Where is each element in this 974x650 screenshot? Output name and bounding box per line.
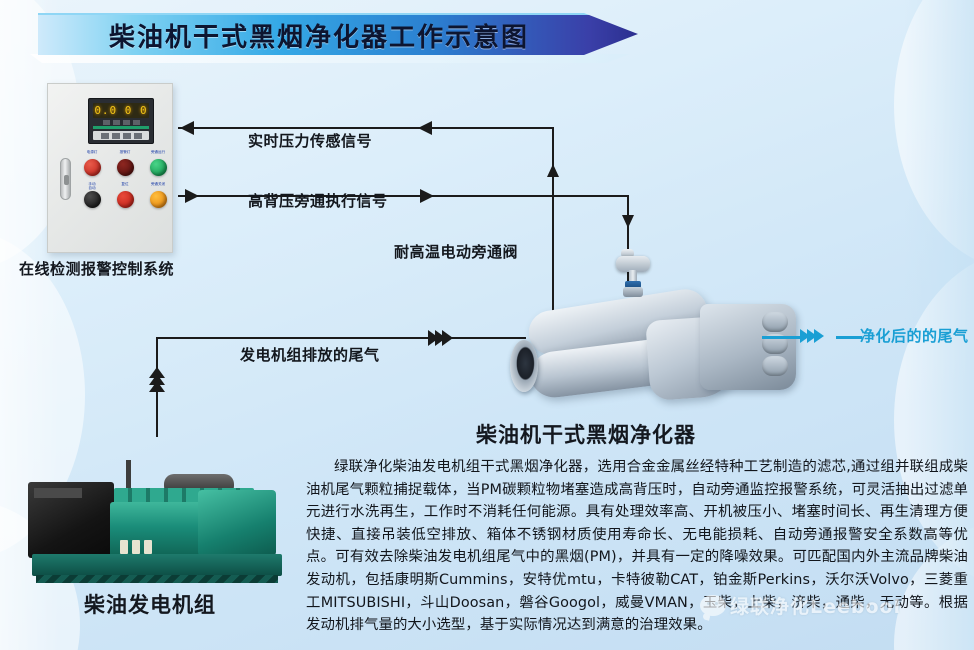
alternator — [198, 490, 276, 556]
label-exhaust-in: 发电机组排放的尾气 — [240, 344, 380, 365]
arrow-pressure-mid — [418, 121, 432, 135]
cabinet-handle — [60, 158, 71, 200]
button-caption: 报警灯 — [115, 150, 135, 159]
arrow-valve-down — [622, 215, 634, 228]
button-caption: 旁通关闭 — [148, 182, 168, 191]
selector-knob-icon — [84, 191, 101, 208]
panel-button-bypass-run[interactable]: 旁通运行 — [148, 150, 168, 176]
filter-cartridge — [762, 356, 788, 376]
device-filter-housing — [700, 304, 796, 390]
button-caption: 手动 自动 — [82, 182, 102, 191]
purifier-device-photo — [508, 278, 818, 408]
wire-bypass-exec — [178, 195, 629, 197]
label-bypass-exec: 高背压旁通执行信号 — [248, 190, 388, 211]
control-panel-photo: 0.0 0 0 电源灯 报警灯 旁通运行 — [47, 83, 173, 253]
generator-set-photo — [14, 466, 296, 584]
arrow-sensor-up — [547, 164, 559, 177]
actuator-base — [623, 287, 643, 297]
device-caption: 柴油机干式黑烟净化器 — [476, 419, 696, 449]
product-description: 绿联净化柴油发电机组干式黑烟净化器，选用合金金属丝经特种工艺制造的滤芯,通过组并… — [306, 456, 968, 637]
device-inlet-flange — [510, 340, 538, 392]
page-title: 柴油机干式黑烟净化器工作示意图 — [109, 17, 567, 54]
wire-exhaust-in — [156, 337, 526, 339]
reset-button-icon — [117, 191, 134, 208]
label-exhaust-out: 净化后的的尾气 — [860, 325, 969, 346]
display-digits: 0.0 0 0 — [93, 103, 149, 118]
control-panel-caption: 在线检测报警控制系统 — [19, 258, 174, 279]
button-caption: 旁通运行 — [148, 150, 168, 159]
button-grid: 电源灯 报警灯 旁通运行 手动 自动 复位 — [82, 150, 168, 214]
arrow-bypass-mid — [420, 189, 434, 203]
panel-button-power[interactable]: 电源灯 — [82, 150, 102, 176]
panel-button-bypass-closed[interactable]: 旁通关闭 — [148, 182, 168, 208]
filter-cartridge — [762, 312, 788, 332]
wire-pressure-signal — [178, 127, 554, 129]
diagram-canvas: 柴油机干式黑烟净化器工作示意图 0.0 0 0 电源灯 报警灯 — [0, 0, 974, 650]
cyan-line-right — [836, 336, 862, 339]
bypass-valve-actuator — [616, 256, 650, 286]
arrow-pressure-to-panel — [180, 121, 194, 135]
panel-button-reset[interactable]: 复位 — [115, 182, 135, 208]
chevrons-exhaust-out — [800, 329, 821, 343]
power-lamp-icon — [84, 159, 101, 176]
label-pressure-signal: 实时压力传感信号 — [248, 130, 372, 151]
banner-shadow — [30, 54, 630, 63]
panel-button-alarm[interactable]: 报警灯 — [115, 150, 135, 176]
skid-base — [32, 554, 282, 576]
chevrons-exhaust-in — [428, 330, 449, 346]
bypass-closed-lamp-icon — [150, 191, 167, 208]
connector-plug — [144, 540, 152, 554]
button-caption: 复位 — [115, 182, 135, 191]
label-bypass-valve: 耐高温电动旁通阀 — [394, 241, 518, 262]
controller-keypad — [93, 131, 149, 140]
display-green-bar — [93, 126, 149, 129]
exhaust-stack — [126, 460, 131, 490]
connector-plug — [120, 540, 128, 554]
button-caption: 电源灯 — [82, 150, 102, 159]
connector-plug — [132, 540, 140, 554]
title-banner: 柴油机干式黑烟净化器工作示意图 — [38, 13, 638, 55]
genset-caption: 柴油发电机组 — [84, 589, 216, 619]
bypass-run-lamp-icon — [150, 159, 167, 176]
button-row-top: 电源灯 报警灯 旁通运行 — [82, 150, 168, 176]
radiator-assembly — [28, 482, 114, 558]
arrow-bypass-from-panel — [185, 189, 199, 203]
controller-display: 0.0 0 0 — [88, 98, 154, 144]
panel-knob-manual-auto[interactable]: 手动 自动 — [82, 182, 102, 208]
alarm-lamp-icon — [117, 159, 134, 176]
button-row-bottom: 手动 自动 复位 旁通关闭 — [82, 182, 168, 208]
chevrons-exhaust-up — [149, 367, 165, 388]
